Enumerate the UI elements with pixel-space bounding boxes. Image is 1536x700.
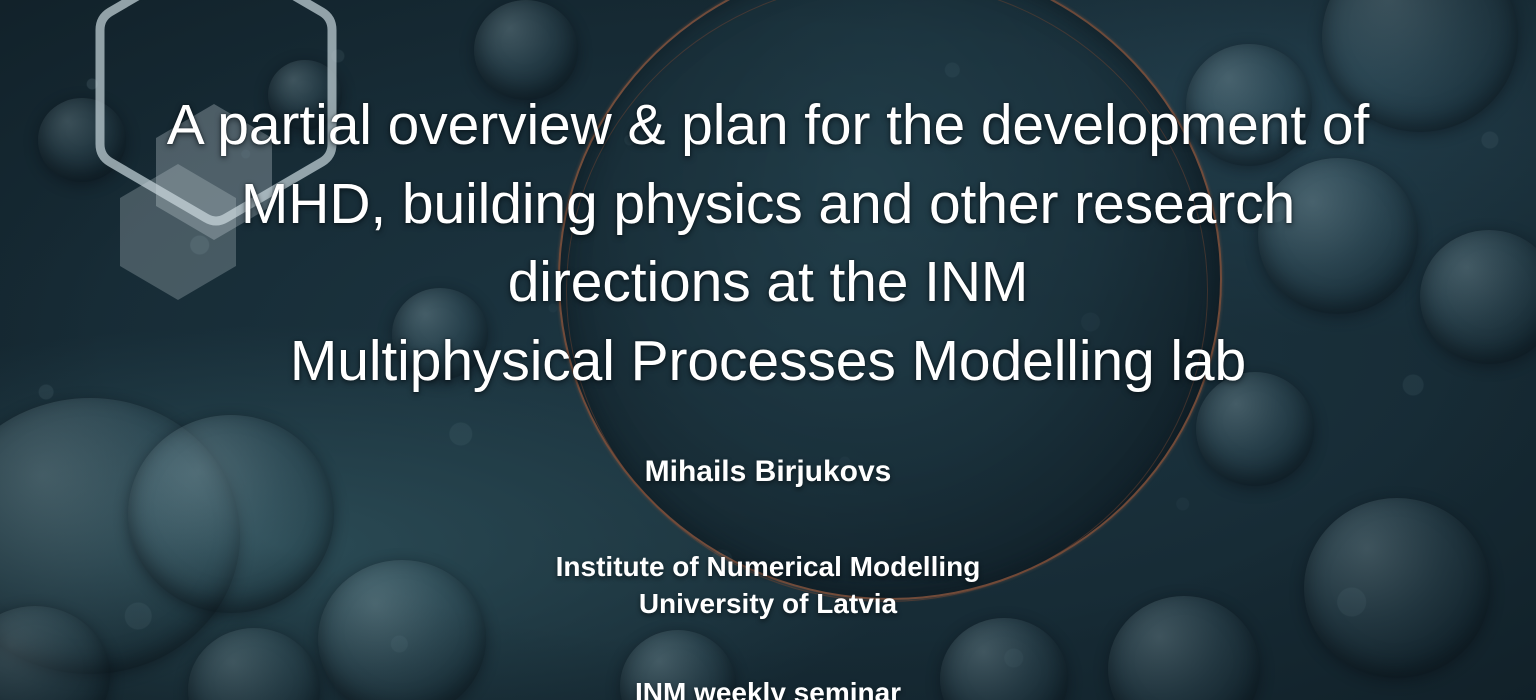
affiliation: Institute of Numerical Modelling Univers… — [556, 549, 981, 623]
title-slide: A partial overview & plan for the develo… — [0, 0, 1536, 700]
author-name: Mihails Birjukovs — [645, 455, 892, 489]
title-line: A partial overview & plan for the develo… — [58, 86, 1478, 165]
page-title: A partial overview & plan for the develo… — [58, 86, 1478, 401]
title-line: directions at the INM — [58, 243, 1478, 322]
affiliation-line: University of Latvia — [556, 586, 981, 623]
affiliation-line: Institute of Numerical Modelling — [556, 549, 981, 586]
slide-content: A partial overview & plan for the develo… — [0, 0, 1536, 700]
event-name: INM weekly seminar — [635, 677, 901, 700]
title-line: MHD, building physics and other research — [58, 165, 1478, 244]
title-line: Multiphysical Processes Modelling lab — [58, 322, 1478, 401]
